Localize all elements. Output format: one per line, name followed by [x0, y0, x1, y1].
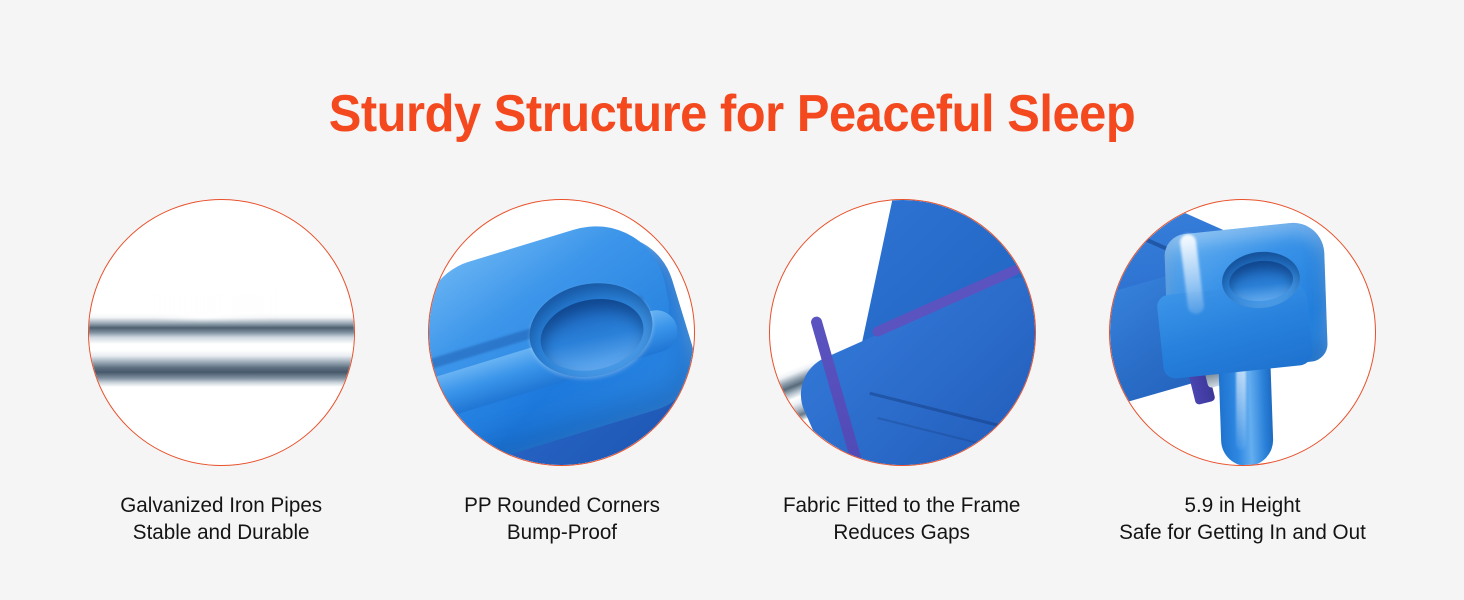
caption-line-2: Reduces Gaps	[783, 519, 1020, 546]
corner-joint-leg-illustration	[1110, 200, 1375, 465]
product-infographic: Sturdy Structure for Peaceful Sleep Galv…	[0, 0, 1464, 600]
page-title: Sturdy Structure for Peaceful Sleep	[44, 84, 1420, 144]
chrome-pipe-shape	[89, 313, 354, 387]
feature-card-galvanized-iron-pipes: Galvanized Iron Pipes Stable and Durable	[88, 199, 355, 546]
feature-caption-pp-rounded-corners: PP Rounded Corners Bump-Proof	[464, 492, 660, 546]
caption-line-2: Bump-Proof	[464, 519, 660, 546]
feature-row: Galvanized Iron Pipes Stable and Durable	[0, 199, 1464, 546]
fabric-stage	[770, 200, 1035, 465]
joint-socket-hole-inner	[1227, 258, 1295, 304]
feature-image-pp-rounded-corners	[428, 199, 695, 466]
caption-line-1: Galvanized Iron Pipes	[121, 493, 323, 517]
caption-line-2: Stable and Durable	[121, 519, 323, 546]
feature-image-height-safe	[1109, 199, 1376, 466]
pipe-highlight	[153, 290, 275, 319]
pp-corner-illustration	[429, 200, 694, 465]
caption-line-1: PP Rounded Corners	[464, 493, 660, 517]
feature-image-galvanized-iron-pipes	[88, 199, 355, 466]
caption-line-1: Fabric Fitted to the Frame	[783, 493, 1020, 517]
fabric-frame-illustration	[770, 200, 1035, 465]
feature-caption-galvanized-iron-pipes: Galvanized Iron Pipes Stable and Durable	[121, 492, 323, 546]
feature-caption-fabric-fitted-frame: Fabric Fitted to the Frame Reduces Gaps	[783, 492, 1020, 546]
feature-card-pp-rounded-corners: PP Rounded Corners Bump-Proof	[428, 199, 695, 546]
leg-stage	[1110, 200, 1375, 465]
feature-card-height-safe: 5.9 in Height Safe for Getting In and Ou…	[1109, 199, 1376, 546]
caption-line-1: 5.9 in Height	[1185, 493, 1301, 517]
caption-line-2: Safe for Getting In and Out	[1119, 519, 1366, 546]
feature-caption-height-safe: 5.9 in Height Safe for Getting In and Ou…	[1119, 492, 1366, 546]
feature-image-fabric-fitted-frame	[769, 199, 1036, 466]
galvanized-iron-pipe-illustration	[89, 200, 354, 465]
pp-stage	[429, 200, 694, 465]
feature-card-fabric-fitted-frame: Fabric Fitted to the Frame Reduces Gaps	[769, 199, 1036, 546]
